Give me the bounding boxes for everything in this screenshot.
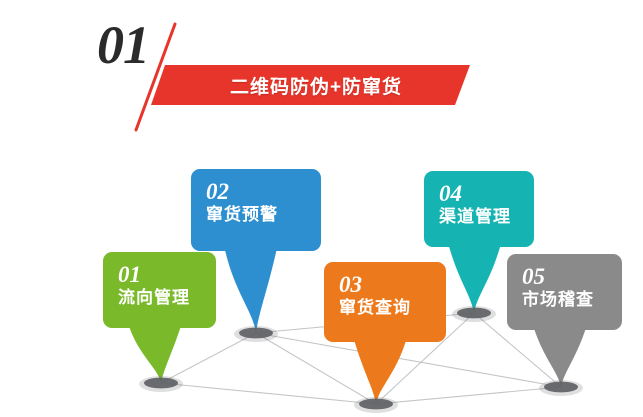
pin-label: 市场稽查 xyxy=(522,289,609,311)
pin-number: 02 xyxy=(206,179,308,204)
pin-card-05[interactable]: 05市场稽查 xyxy=(507,254,622,330)
pin-label: 窜货预警 xyxy=(206,204,308,226)
pin-label: 流向管理 xyxy=(118,287,203,309)
pin-label: 窜货查询 xyxy=(339,297,433,319)
pin-base-ellipse xyxy=(544,382,578,393)
pin-label: 渠道管理 xyxy=(439,206,521,228)
pin-card-03[interactable]: 03窜货查询 xyxy=(324,262,446,342)
pin-base-ellipse xyxy=(457,308,491,319)
infographic-canvas: 01 二维码防伪+防窜货 01流向管理02窜货预警03窜货查询04渠道管理05市… xyxy=(0,0,643,417)
pin-base-ellipse xyxy=(144,378,178,389)
pin-base-shadows xyxy=(0,0,643,417)
pin-network-diagram: 01流向管理02窜货预警03窜货查询04渠道管理05市场稽查 xyxy=(0,0,643,417)
pin-card-02[interactable]: 02窜货预警 xyxy=(191,169,321,251)
pin-card-04[interactable]: 04渠道管理 xyxy=(424,171,534,247)
pin-number: 03 xyxy=(339,272,433,297)
pin-number: 05 xyxy=(522,264,609,289)
pin-number: 04 xyxy=(439,181,521,206)
pin-card-01[interactable]: 01流向管理 xyxy=(103,252,216,328)
pin-base-ellipse xyxy=(239,328,273,339)
pin-number: 01 xyxy=(118,262,203,287)
pin-base-ellipse xyxy=(359,399,393,410)
